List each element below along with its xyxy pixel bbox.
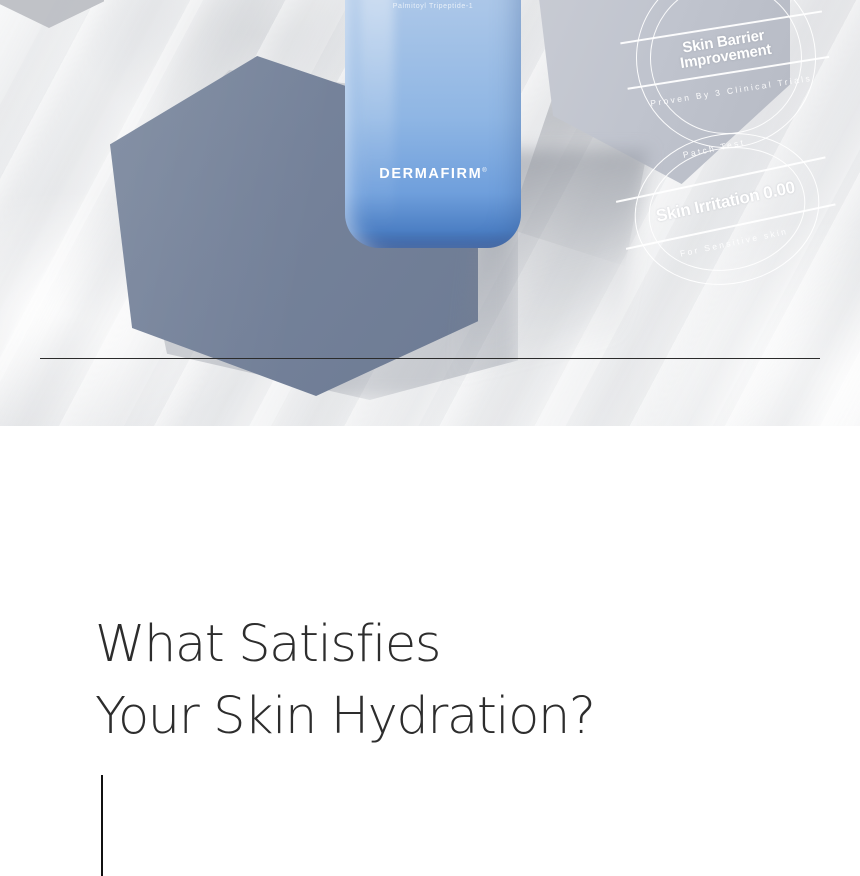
bottle-ingredient-text: Palmitoyl Tripeptide-1 bbox=[345, 3, 521, 10]
registered-trademark-icon: ® bbox=[482, 168, 486, 174]
page-headline: What Satisfies Your Skin Hydration? bbox=[95, 609, 595, 754]
brand-name-text: DERMAFIRM bbox=[379, 166, 482, 182]
bottle-gloss-highlight bbox=[360, 0, 394, 234]
hero-horizontal-rule bbox=[40, 358, 820, 359]
hero-product-image: Palmitoyl Tripeptide-1 DERMAFIRM® Approv… bbox=[0, 0, 860, 426]
vertical-accent-bar bbox=[101, 775, 103, 876]
content-section: What Satisfies Your Skin Hydration? bbox=[0, 426, 860, 875]
bottle-brand-logo: DERMAFIRM® bbox=[345, 166, 521, 182]
